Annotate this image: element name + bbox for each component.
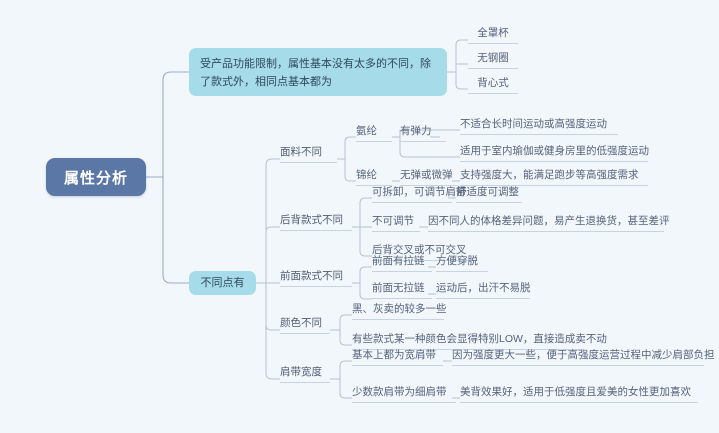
row-thin-strap[interactable]: 少数款肩带为细肩带 [352,387,456,403]
category-label: 面料不同 [280,145,322,160]
category-fabric[interactable]: 面料不同 [280,147,337,163]
row-text: 不可调节 [372,214,414,229]
row-spandex-note-1[interactable]: 不适合长时间运动或高强度运动 [460,119,618,135]
row-front-zip[interactable]: 前面有拉链 [372,256,432,272]
row-nylon-note[interactable]: 支持强度大，能满足跑步等高强度需求 [460,170,648,186]
row-front-nozip[interactable]: 前面无拉链 [372,283,432,299]
branch-same-points-label: 受产品功能限制，属性基本没有太多的不同，除了款式外，相同点基本都为 [200,58,431,88]
mindmap-canvas[interactable]: 属性分析 受产品功能限制，属性基本没有太多的不同，除了款式外，相同点基本都为 全… [0,0,719,433]
row-text: 前面有拉链 [372,254,425,269]
category-label: 后背款式不同 [280,213,343,228]
row-spandex-prop[interactable]: 有弹力 [400,126,446,142]
row-text: 美背效果好，适用于低强度且爱美的女性更加喜欢 [460,385,691,400]
branch-same-points[interactable]: 受产品功能限制，属性基本没有太多的不同，除了款式外，相同点基本都为 [189,48,447,96]
row-text: 黑、灰卖的较多一些 [352,302,447,317]
category-back-style[interactable]: 后背款式不同 [280,215,352,231]
leaf-no-underwire[interactable]: 无钢圈 [468,52,518,69]
row-text: 少数款肩带为细肩带 [352,385,447,400]
row-nylon-prop[interactable]: 无弹或微弹 [400,170,458,186]
category-strap-width[interactable]: 肩带宽度 [280,367,330,383]
branch-diff-points[interactable]: 不同点有 [189,271,256,295]
row-nonadjustable-note[interactable]: 因不同人的体格差异问题，易产生退换货，甚至差评 [428,216,664,232]
category-label: 肩带宽度 [280,365,322,380]
category-front-style[interactable]: 前面款式不同 [280,271,352,287]
branch-diff-points-label: 不同点有 [201,274,245,292]
row-wide-strap[interactable]: 基本上都为宽肩带 [352,350,443,366]
leaf-label: 无钢圈 [477,51,509,66]
root-label: 属性分析 [64,167,128,188]
row-text: 有些款式某一种颜色会显得特别LOW，直接造成卖不动 [352,332,607,347]
leaf-vest-style[interactable]: 背心式 [468,77,518,94]
row-thin-strap-note[interactable]: 美背效果好，适用于低强度且爱美的女性更加喜欢 [460,387,698,403]
row-text: 氨纶 [356,124,377,139]
leaf-label: 背心式 [477,76,509,91]
row-text: 有弹力 [400,124,432,139]
row-text: 锦纶 [356,168,377,183]
row-front-nozip-note[interactable]: 运动后，出汗不易脱 [436,283,530,299]
leaf-label: 全罩杯 [477,26,509,41]
row-detachable-strap[interactable]: 可拆卸，可调节肩带 [372,187,452,203]
row-text: 方便穿脱 [436,254,478,269]
row-color-popular[interactable]: 黑、灰卖的较多一些 [352,304,444,320]
category-label: 颜色不同 [280,316,322,331]
row-text: 可拆卸，可调节肩带 [372,185,467,200]
row-text: 不适合长时间运动或高强度运动 [460,117,607,132]
row-front-zip-note[interactable]: 方便穿脱 [436,256,488,272]
row-wide-strap-note[interactable]: 因为强度更大一些，便于高强度运营过程中减少肩部负担 [452,350,704,366]
row-spandex-note-2[interactable]: 适用于室内瑜伽或健身房里的低强度运动 [460,146,648,162]
row-text: 前面无拉链 [372,281,425,296]
row-text: 支持强度大，能满足跑步等高强度需求 [460,168,639,183]
row-spandex-term[interactable]: 氨纶 [356,126,392,142]
root-node[interactable]: 属性分析 [46,158,146,196]
row-nylon-term[interactable]: 锦纶 [356,170,392,186]
leaf-full-cup[interactable]: 全罩杯 [468,27,518,44]
row-text: 适用于室内瑜伽或健身房里的低强度运动 [460,144,649,159]
row-text: 舒适度可调整 [456,185,519,200]
category-label: 前面款式不同 [280,269,343,284]
row-text: 运动后，出汗不易脱 [436,281,531,296]
row-text: 无弹或微弹 [400,168,453,183]
category-color[interactable]: 颜色不同 [280,318,330,334]
row-text: 因为强度更大一些，便于高强度运营过程中减少肩部负担 [452,348,715,363]
row-nonadjustable[interactable]: 不可调节 [372,216,420,232]
row-text: 因不同人的体格差异问题，易产生退换货，甚至差评 [428,214,670,229]
row-text: 基本上都为宽肩带 [352,348,436,363]
row-detachable-strap-note[interactable]: 舒适度可调整 [456,187,522,203]
